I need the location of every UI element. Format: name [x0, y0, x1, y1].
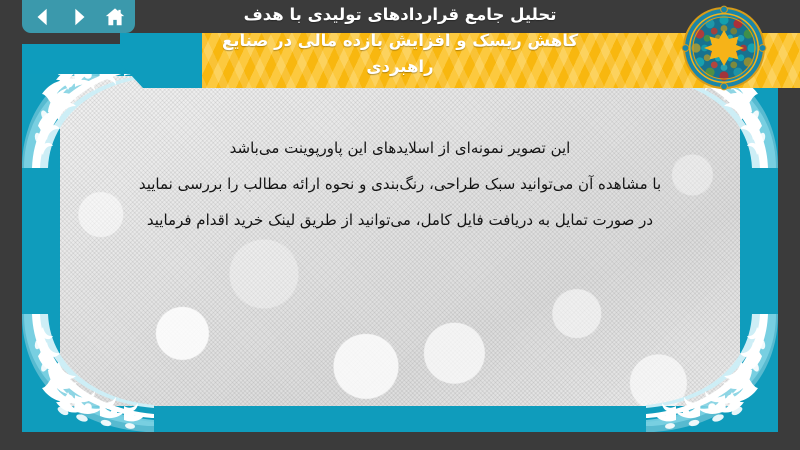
- title-ribbon-banner: [182, 33, 800, 88]
- slide-viewer: تحلیل جامع قراردادهای تولیدی با هدف کاهش…: [0, 0, 800, 450]
- slide-body-text: این تصویر نمونه‌ای از اسلایدهای این پاور…: [22, 130, 778, 238]
- home-icon[interactable]: [103, 5, 127, 29]
- slide-content-panel: [60, 76, 740, 406]
- forward-arrow-icon[interactable]: [67, 5, 91, 29]
- navigation-bar: [22, 0, 135, 33]
- body-line-3: در صورت تمایل به دریافت فایل کامل، می‌تو…: [22, 202, 778, 238]
- body-line-2: با مشاهده آن می‌توانید سبک طراحی، رنگ‌بن…: [22, 166, 778, 202]
- back-arrow-icon[interactable]: [31, 5, 55, 29]
- body-line-1: این تصویر نمونه‌ای از اسلایدهای این پاور…: [22, 130, 778, 166]
- slide-frame: [22, 50, 778, 432]
